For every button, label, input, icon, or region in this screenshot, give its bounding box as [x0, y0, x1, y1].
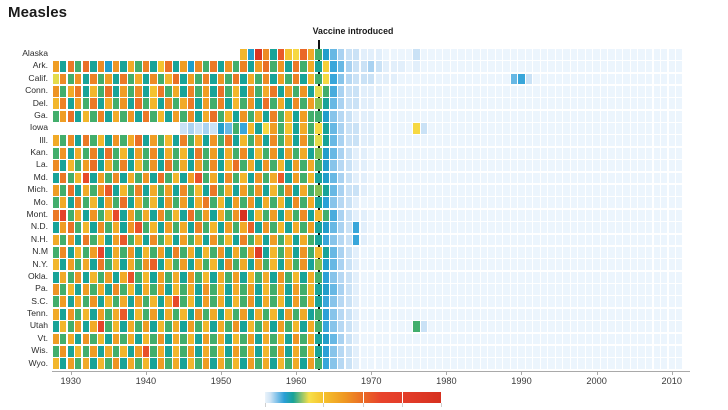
heatmap-cell: [338, 272, 344, 283]
heatmap-cell: [165, 98, 171, 109]
heatmap-cell: [458, 259, 464, 270]
heatmap-cell: [308, 197, 314, 208]
heatmap-cell: [120, 98, 126, 109]
heatmap-cell: [518, 321, 524, 332]
heatmap-cell: [526, 111, 532, 122]
heatmap-cell: [571, 259, 577, 270]
heatmap-cell: [503, 222, 509, 233]
heatmap-cell: [308, 160, 314, 171]
heatmap-cell: [353, 123, 359, 134]
heatmap-cell: [225, 111, 231, 122]
heatmap-cell: [308, 309, 314, 320]
heatmap-cell: [180, 111, 186, 122]
heatmap-cell: [466, 296, 472, 307]
color-legend: [265, 392, 441, 403]
heatmap-cell: [278, 222, 284, 233]
state-label-alaska: Alaska: [22, 48, 48, 60]
heatmap-cell: [90, 86, 96, 97]
heatmap-cell: [240, 86, 246, 97]
heatmap-cell: [158, 259, 164, 270]
heatmap-cell: [255, 148, 261, 159]
heatmap-cell: [466, 49, 472, 60]
heatmap-cell: [203, 210, 209, 221]
heatmap-cell: [376, 197, 382, 208]
heatmap-cell: [105, 98, 111, 109]
heatmap-cell: [676, 160, 682, 171]
heatmap-cell: [458, 49, 464, 60]
heatmap-cell: [195, 148, 201, 159]
heatmap-cell: [225, 259, 231, 270]
heatmap-cell: [263, 321, 269, 332]
heatmap-cell: [330, 346, 336, 357]
heatmap-cell: [368, 284, 374, 295]
heatmap-cell: [488, 49, 494, 60]
heatmap-cell: [315, 111, 321, 122]
heatmap-cell: [323, 185, 329, 196]
heatmap-cell: [308, 173, 314, 184]
heatmap-cell: [571, 74, 577, 85]
heatmap-cell: [203, 358, 209, 369]
heatmap-cell: [338, 346, 344, 357]
heatmap-cell: [631, 123, 637, 134]
heatmap-cell: [60, 222, 66, 233]
heatmap-cell: [563, 272, 569, 283]
heatmap-cell: [563, 185, 569, 196]
heatmap-cell: [376, 321, 382, 332]
heatmap-cell: [473, 272, 479, 283]
heatmap-cell: [548, 123, 554, 134]
heatmap-cell: [421, 222, 427, 233]
heatmap-cell: [413, 173, 419, 184]
heatmap-cell: [481, 259, 487, 270]
heatmap-cell: [593, 334, 599, 345]
heatmap-cell: [135, 173, 141, 184]
heatmap-cell: [443, 98, 449, 109]
heatmap-cell: [300, 160, 306, 171]
heatmap-cell: [548, 49, 554, 60]
heatmap-cell: [654, 185, 660, 196]
heatmap-cell: [308, 111, 314, 122]
heatmap-cell: [383, 61, 389, 72]
heatmap-cell: [631, 185, 637, 196]
heatmap-cell: [458, 272, 464, 283]
heatmap-cell: [608, 334, 614, 345]
heatmap-cell: [203, 86, 209, 97]
heatmap-cell: [669, 111, 675, 122]
heatmap-cell: [210, 284, 216, 295]
heatmap-cell: [210, 222, 216, 233]
heatmap-cell: [113, 173, 119, 184]
heatmap-cell: [518, 185, 524, 196]
heatmap-cell: [616, 321, 622, 332]
heatmap-cell: [150, 259, 156, 270]
heatmap-cell: [300, 98, 306, 109]
heatmap-cell: [646, 235, 652, 246]
heatmap-cell: [631, 235, 637, 246]
heatmap-cell: [300, 197, 306, 208]
heatmap-cell: [361, 135, 367, 146]
heatmap-cell: [353, 222, 359, 233]
heatmap-cell: [383, 111, 389, 122]
heatmap-cell: [601, 272, 607, 283]
heatmap-cell: [165, 74, 171, 85]
heatmap-cell: [240, 61, 246, 72]
heatmap-cell: [285, 309, 291, 320]
heatmap-cell: [571, 235, 577, 246]
heatmap-cell: [98, 173, 104, 184]
state-label-ga: Ga.: [34, 110, 48, 122]
heatmap-cell: [203, 148, 209, 159]
heatmap-cell: [338, 74, 344, 85]
heatmap-cell: [233, 222, 239, 233]
heatmap-cell: [98, 98, 104, 109]
heatmap-cell: [526, 173, 532, 184]
heatmap-cell: [368, 272, 374, 283]
heatmap-cell: [616, 185, 622, 196]
heatmap-cell: [143, 296, 149, 307]
heatmap-cell: [593, 49, 599, 60]
heatmap-cell: [143, 346, 149, 357]
heatmap-cell: [180, 197, 186, 208]
heatmap-cell: [240, 160, 246, 171]
heatmap-cell: [285, 222, 291, 233]
heatmap-cell: [548, 173, 554, 184]
heatmap-cell: [90, 247, 96, 258]
heatmap-cell: [518, 334, 524, 345]
heatmap-cell: [616, 49, 622, 60]
heatmap-cell: [443, 61, 449, 72]
heatmap-cell: [158, 98, 164, 109]
heatmap-cell: [616, 284, 622, 295]
heatmap-cell: [308, 135, 314, 146]
heatmap-cell: [83, 111, 89, 122]
heatmap-cell: [676, 61, 682, 72]
heatmap-cell: [646, 358, 652, 369]
heatmap-cell: [361, 222, 367, 233]
heatmap-cell: [451, 272, 457, 283]
heatmap-cell: [233, 272, 239, 283]
heatmap-cell: [421, 309, 427, 320]
heatmap-cell: [593, 197, 599, 208]
heatmap-cell: [616, 111, 622, 122]
heatmap-cell: [210, 309, 216, 320]
heatmap-cell: [451, 173, 457, 184]
heatmap-cell: [571, 210, 577, 221]
heatmap-cell: [353, 296, 359, 307]
heatmap-cell: [60, 98, 66, 109]
heatmap-cell: [428, 259, 434, 270]
heatmap-cell: [676, 197, 682, 208]
heatmap-cell: [278, 98, 284, 109]
heatmap-cell: [488, 358, 494, 369]
heatmap-cell: [436, 334, 442, 345]
heatmap-cell: [120, 173, 126, 184]
heatmap-cell: [669, 247, 675, 258]
heatmap-cell: [428, 321, 434, 332]
heatmap-cell: [616, 74, 622, 85]
heatmap-cell: [330, 210, 336, 221]
heatmap-cell: [180, 123, 186, 134]
state-label-ark: Ark.: [33, 60, 48, 72]
heatmap-cell: [270, 74, 276, 85]
heatmap-cell: [53, 148, 59, 159]
heatmap-cell: [406, 247, 412, 258]
heatmap-cell: [496, 185, 502, 196]
heatmap-cell: [436, 197, 442, 208]
heatmap-cell: [361, 173, 367, 184]
heatmap-cell: [654, 272, 660, 283]
x-axis-tick: [597, 371, 598, 375]
heatmap-cell: [383, 173, 389, 184]
heatmap-cell: [406, 98, 412, 109]
heatmap-cell: [368, 321, 374, 332]
heatmap-cell: [68, 334, 74, 345]
heatmap-cell: [323, 296, 329, 307]
heatmap-cell: [654, 173, 660, 184]
heatmap-cell: [83, 61, 89, 72]
heatmap-cell: [578, 135, 584, 146]
heatmap-cell: [428, 222, 434, 233]
heatmap-cell: [608, 98, 614, 109]
heatmap-cell: [225, 247, 231, 258]
heatmap-cell: [571, 247, 577, 258]
heatmap-cell: [436, 247, 442, 258]
heatmap-cell: [128, 86, 134, 97]
heatmap-cell: [195, 296, 201, 307]
heatmap-cell: [563, 247, 569, 258]
heatmap-cell: [676, 210, 682, 221]
heatmap-cell: [443, 334, 449, 345]
heatmap-cell: [654, 235, 660, 246]
x-axis-tick-label: 1950: [211, 376, 231, 386]
heatmap-cell: [676, 284, 682, 295]
heatmap-cell: [195, 74, 201, 85]
heatmap-cell: [376, 334, 382, 345]
heatmap-cell: [443, 86, 449, 97]
heatmap-cell: [68, 197, 74, 208]
heatmap-cell: [608, 86, 614, 97]
heatmap-cell: [541, 309, 547, 320]
heatmap-cell: [240, 123, 246, 134]
heatmap-cell: [255, 173, 261, 184]
heatmap-cell: [255, 197, 261, 208]
heatmap-cell: [195, 334, 201, 345]
heatmap-cell: [571, 222, 577, 233]
heatmap-cell: [654, 296, 660, 307]
legend-tick: [402, 403, 403, 407]
heatmap-cell: [406, 74, 412, 85]
heatmap-cell: [300, 135, 306, 146]
heatmap-cell: [586, 123, 592, 134]
heatmap-cell: [105, 235, 111, 246]
heatmap-cell: [270, 346, 276, 357]
heatmap-cell: [105, 222, 111, 233]
heatmap-cell: [255, 98, 261, 109]
heatmap-cell: [113, 247, 119, 258]
heatmap-cell: [503, 185, 509, 196]
heatmap-cell: [458, 111, 464, 122]
heatmap-cell: [128, 210, 134, 221]
heatmap-cell: [150, 346, 156, 357]
heatmap-cell: [300, 346, 306, 357]
heatmap-cell: [278, 259, 284, 270]
heatmap-cell: [669, 98, 675, 109]
heatmap-cell: [53, 135, 59, 146]
heatmap-cell: [631, 49, 637, 60]
heatmap-cell: [68, 86, 74, 97]
heatmap-cell: [646, 321, 652, 332]
heatmap-cell: [158, 247, 164, 258]
heatmap-cell: [451, 61, 457, 72]
heatmap-cell: [323, 284, 329, 295]
heatmap-cell: [586, 98, 592, 109]
heatmap-cell: [90, 111, 96, 122]
heatmap-cell: [270, 284, 276, 295]
heatmap-cell: [338, 135, 344, 146]
heatmap-cell: [293, 247, 299, 258]
heatmap-cell: [533, 123, 539, 134]
heatmap-cell: [593, 321, 599, 332]
heatmap-cell: [586, 284, 592, 295]
heatmap-cell: [638, 123, 644, 134]
heatmap-cell: [60, 61, 66, 72]
heatmap-cell: [353, 74, 359, 85]
heatmap-cell: [210, 173, 216, 184]
heatmap-cell: [428, 123, 434, 134]
heatmap-cell: [593, 185, 599, 196]
heatmap-cell: [398, 173, 404, 184]
page-title: Measles: [8, 4, 67, 21]
heatmap-cell: [248, 222, 254, 233]
heatmap-cell: [631, 197, 637, 208]
heatmap-cell: [98, 309, 104, 320]
heatmap-cell: [661, 296, 667, 307]
heatmap-cell: [548, 111, 554, 122]
heatmap-cell: [60, 197, 66, 208]
heatmap-cell: [270, 222, 276, 233]
heatmap-cell: [68, 74, 74, 85]
heatmap-cell: [518, 173, 524, 184]
heatmap-cell: [173, 272, 179, 283]
heatmap-cell: [180, 222, 186, 233]
heatmap-cell: [473, 284, 479, 295]
heatmap-cell: [240, 321, 246, 332]
heatmap-cell: [361, 98, 367, 109]
heatmap-cell: [518, 309, 524, 320]
heatmap-cell: [53, 185, 59, 196]
heatmap-cell: [458, 86, 464, 97]
heatmap-cell: [278, 148, 284, 159]
heatmap-cell: [278, 123, 284, 134]
heatmap-cell: [436, 346, 442, 357]
heatmap-cell: [503, 272, 509, 283]
heatmap-cell: [60, 235, 66, 246]
heatmap-cell: [646, 185, 652, 196]
heatmap-cell: [180, 247, 186, 258]
heatmap-cell: [330, 61, 336, 72]
heatmap-cell: [60, 86, 66, 97]
heatmap-cell: [158, 272, 164, 283]
heatmap-cell: [383, 135, 389, 146]
heatmap-cell: [421, 197, 427, 208]
heatmap-cell: [413, 259, 419, 270]
legend-tick: [323, 403, 324, 407]
heatmap-cell: [83, 148, 89, 159]
heatmap-cell: [180, 296, 186, 307]
heatmap-cell: [75, 135, 81, 146]
heatmap-cell: [518, 61, 524, 72]
heatmap-cell: [330, 235, 336, 246]
heatmap-cell: [315, 259, 321, 270]
heatmap-cell: [158, 86, 164, 97]
heatmap-cell: [563, 173, 569, 184]
heatmap-cell: [75, 358, 81, 369]
heatmap-cell: [638, 98, 644, 109]
heatmap-cell: [270, 358, 276, 369]
heatmap-cell: [90, 358, 96, 369]
heatmap-cell: [330, 160, 336, 171]
heatmap-cell: [563, 98, 569, 109]
heatmap-cell: [601, 197, 607, 208]
heatmap-cell: [368, 222, 374, 233]
heatmap-cell: [556, 49, 562, 60]
heatmap-cell: [548, 321, 554, 332]
heatmap-cell: [481, 74, 487, 85]
heatmap-cell: [631, 173, 637, 184]
heatmap-cell: [398, 123, 404, 134]
heatmap-cell: [541, 321, 547, 332]
heatmap-cell: [240, 210, 246, 221]
state-label-la: La.: [36, 159, 48, 171]
x-axis-tick-label: 1940: [136, 376, 156, 386]
heatmap-cell: [398, 148, 404, 159]
heatmap-cell: [466, 210, 472, 221]
heatmap-cell: [195, 309, 201, 320]
heatmap-cell: [346, 222, 352, 233]
heatmap-cell: [150, 235, 156, 246]
heatmap-cell: [285, 210, 291, 221]
heatmap-cell: [233, 321, 239, 332]
heatmap-cell: [180, 309, 186, 320]
heatmap-cell: [488, 148, 494, 159]
heatmap-cell: [255, 123, 261, 134]
heatmap-cell: [578, 346, 584, 357]
heatmap-cell: [150, 98, 156, 109]
heatmap-cell: [391, 222, 397, 233]
heatmap-cell: [105, 61, 111, 72]
heatmap-cell: [338, 309, 344, 320]
heatmap-cell: [661, 49, 667, 60]
heatmap-cell: [458, 197, 464, 208]
heatmap-cell: [143, 61, 149, 72]
heatmap-cell: [120, 321, 126, 332]
heatmap-cell: [466, 309, 472, 320]
heatmap-cell: [53, 173, 59, 184]
heatmap-cell: [315, 123, 321, 134]
heatmap-cell: [563, 148, 569, 159]
heatmap-cell: [270, 197, 276, 208]
heatmap-cell: [458, 210, 464, 221]
heatmap-cell: [458, 74, 464, 85]
heatmap-cell: [601, 123, 607, 134]
heatmap-cell: [436, 160, 442, 171]
heatmap-cell: [120, 160, 126, 171]
heatmap-cell: [503, 346, 509, 357]
heatmap-cell: [601, 358, 607, 369]
heatmap-cell: [135, 235, 141, 246]
heatmap-cell: [203, 321, 209, 332]
heatmap-cell: [60, 321, 66, 332]
